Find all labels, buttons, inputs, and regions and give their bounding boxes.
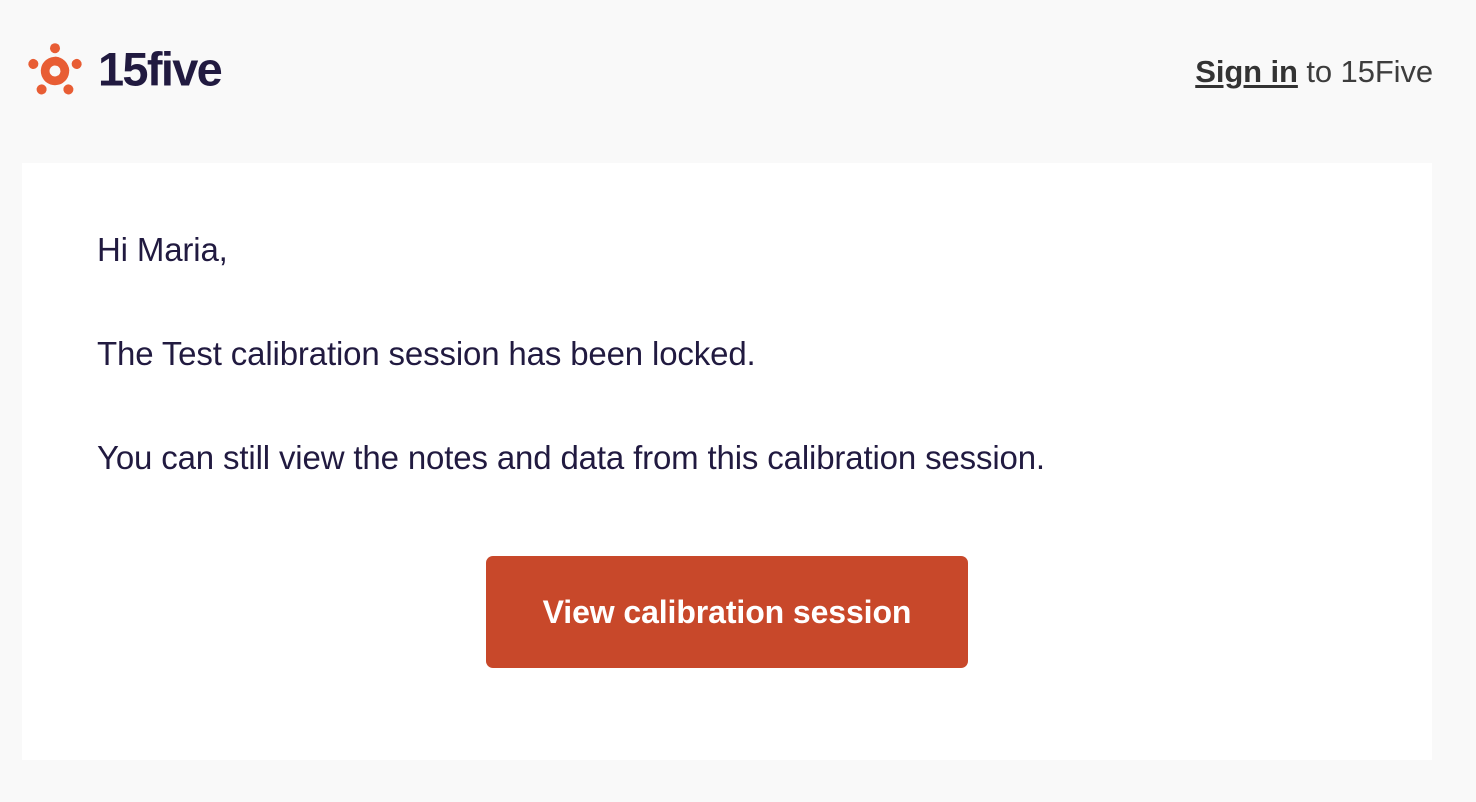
sign-in-link[interactable]: Sign in [1195,54,1298,89]
email-copy: Hi Maria, The Test calibration session h… [97,228,1357,480]
locked-notice-text: The Test calibration session has been lo… [97,332,1357,376]
email-page: 15five Sign in to 15Five Hi Maria, The T… [0,0,1476,802]
greeting-text: Hi Maria, [97,228,1357,272]
15five-pinwheel-icon [22,38,88,104]
email-header: 15five Sign in to 15Five [0,0,1476,163]
signin-tail-label: to 15Five [1298,54,1433,89]
15five-wordmark-text: 15five [98,45,222,95]
email-body-card: Hi Maria, The Test calibration session h… [22,163,1432,760]
15five-wordmark: 15five [98,45,266,97]
brand-logo[interactable]: 15five [22,38,266,104]
view-calibration-session-button[interactable]: View calibration session [486,556,969,668]
still-view-text: You can still view the notes and data fr… [97,436,1357,480]
signin-block: Sign in to 15Five [1195,52,1433,92]
cta-container: View calibration session [22,556,1432,668]
